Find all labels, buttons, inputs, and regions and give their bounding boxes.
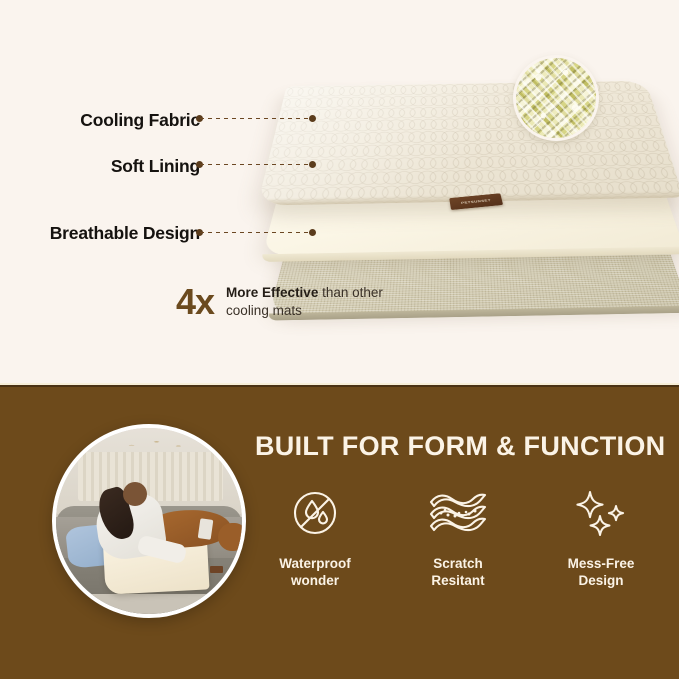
weave-flecks — [516, 58, 596, 138]
photo-mat-tag — [210, 566, 223, 573]
feature-label-list: Cooling Fabric Soft Lining Breathable De… — [0, 0, 200, 386]
connector-dash — [200, 164, 312, 165]
caption-line-1: Scratch — [433, 556, 483, 571]
fabric-sheen — [257, 81, 679, 206]
section-heading: BUILT FOR FORM & FUNCTION — [255, 431, 655, 462]
sparkles-icon — [573, 482, 629, 544]
effectiveness-claim: 4x More Effective than other cooling mat… — [176, 284, 391, 320]
wavy-fabric-icon — [427, 482, 489, 544]
caption-line-2: wonder — [291, 573, 339, 588]
connector-dot-end — [309, 161, 316, 168]
feature-caption-mess-free: Mess-Free Design — [568, 556, 635, 590]
connector-line-cooling-fabric — [196, 114, 316, 123]
connector-dot-end — [309, 229, 316, 236]
connector-line-soft-lining — [196, 160, 316, 169]
connector-dash — [200, 118, 312, 119]
photo-scene — [56, 428, 242, 614]
claim-text-bold: More Effective — [226, 285, 318, 300]
built-for-form-function-section: BUILT FOR FORM & FUNCTION Waterproof won… — [0, 387, 679, 679]
photo-floor — [56, 594, 242, 614]
infographic-page: PETSUNSET Cooling Fabric Soft Lining Bre… — [0, 0, 679, 679]
feature-mess-free: Mess-Free Design — [541, 482, 661, 590]
feature-icon-row: Waterproof wonder — [255, 482, 661, 590]
photo-dog-head — [218, 523, 246, 551]
feature-caption-scratch: Scratch Resitant — [431, 556, 484, 590]
feature-scratch-resistant: Scratch Resitant — [398, 482, 518, 590]
feature-caption-waterproof: Waterproof wonder — [279, 556, 351, 590]
no-water-drop-icon — [290, 482, 340, 544]
feature-waterproof: Waterproof wonder — [255, 482, 375, 590]
caption-line-1: Waterproof — [279, 556, 351, 571]
caption-line-2: Design — [578, 573, 623, 588]
photo-person-head — [123, 482, 147, 506]
label-breathable-design: Breathable Design — [10, 223, 200, 244]
caption-line-2: Resitant — [431, 573, 484, 588]
connector-dot-end — [309, 115, 316, 122]
quilted-cooling-top-layer — [257, 81, 679, 206]
lifestyle-photo — [52, 424, 246, 618]
connector-dash — [200, 232, 312, 233]
product-layers-section: PETSUNSET Cooling Fabric Soft Lining Bre… — [0, 0, 679, 386]
claim-multiplier: 4x — [176, 284, 214, 320]
connector-line-breathable-design — [196, 228, 316, 237]
fabric-weave-closeup-icon — [516, 58, 596, 138]
label-soft-lining: Soft Lining — [10, 156, 200, 177]
label-cooling-fabric: Cooling Fabric — [10, 110, 200, 131]
photo-wall-panel — [78, 452, 223, 500]
photo-wall-art — [116, 435, 194, 452]
claim-text: More Effective than other cooling mats — [226, 284, 391, 320]
caption-line-1: Mess-Free — [568, 556, 635, 571]
